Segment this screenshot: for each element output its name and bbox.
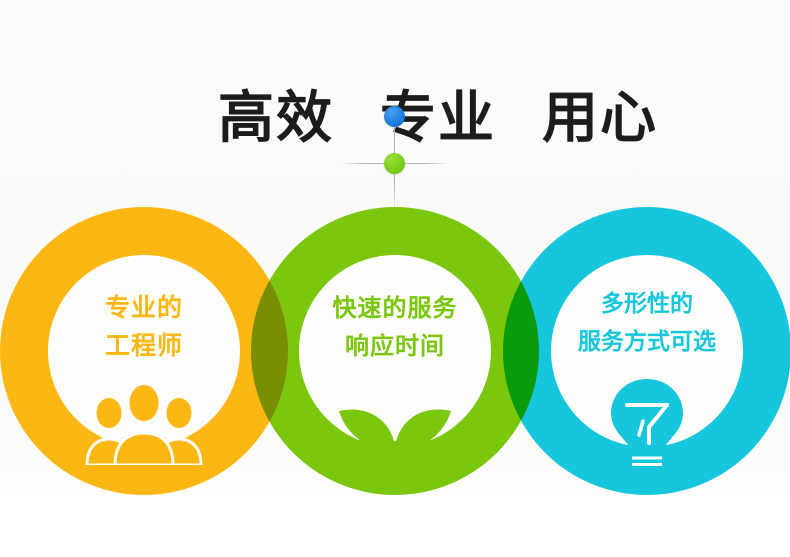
infographic-canvas: 高效专业用心 专业的 工程师 bbox=[0, 0, 790, 557]
ring-service-options[interactable] bbox=[503, 207, 790, 495]
venn-rings bbox=[0, 0, 790, 557]
ring-response-time[interactable] bbox=[251, 207, 539, 495]
bottom-margin bbox=[0, 495, 790, 557]
ring-engineers[interactable] bbox=[0, 207, 288, 495]
